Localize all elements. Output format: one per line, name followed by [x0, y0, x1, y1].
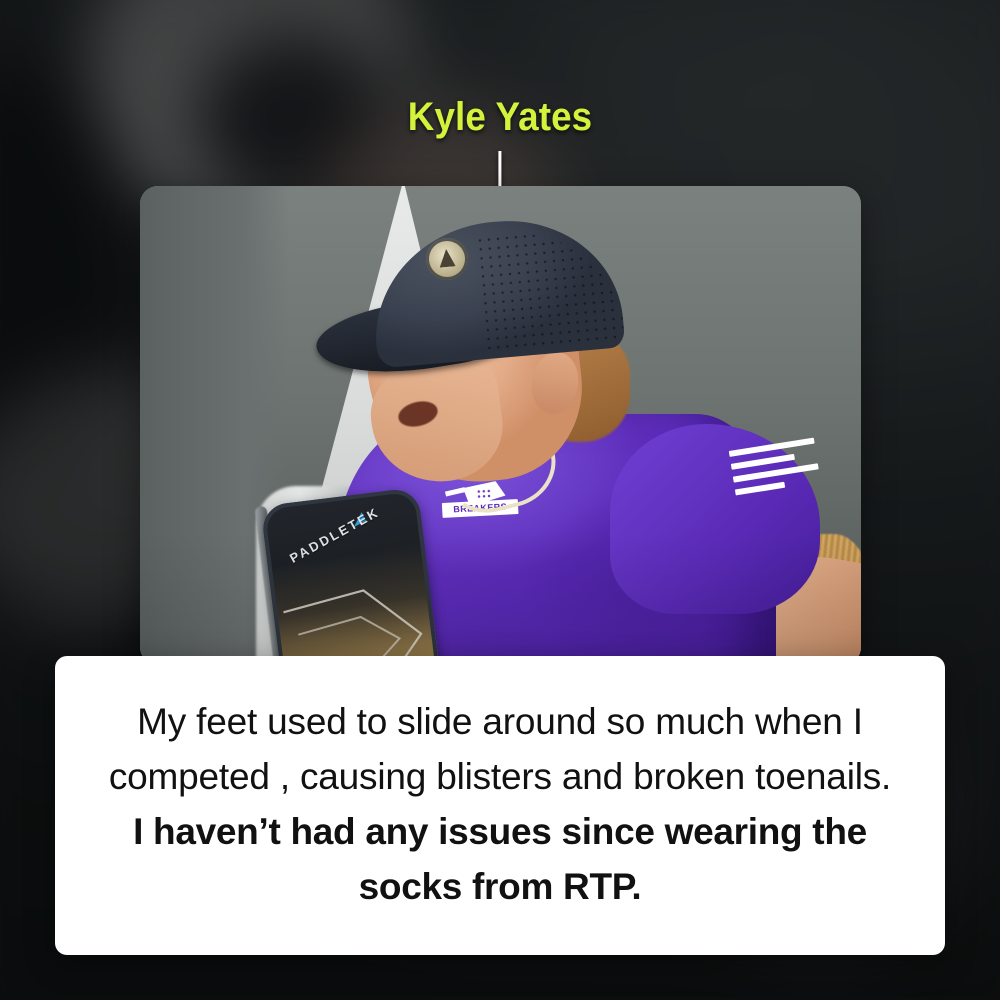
paddle-face: PADDLETEK PHANTOM — [260, 487, 441, 665]
headline-separator: | — [495, 145, 505, 189]
quote-plain-segment: My feet used to slide around so much whe… — [109, 701, 891, 797]
paddle-brand-text: PADDLETEK — [287, 504, 382, 566]
quote-text: My feet used to slide around so much whe… — [99, 694, 901, 914]
pickleball-paddle: PADDLETEK PHANTOM — [260, 487, 441, 665]
testimonial-quote-card: My feet used to slide around so much whe… — [55, 656, 945, 955]
athlete-name: Kyle Yates — [408, 95, 592, 139]
athlete-photo-card: BREAKERS PADDLETEK PHANTOM — [140, 186, 861, 665]
quote-bold-segment: I haven’t had any issues since wearing t… — [133, 811, 867, 907]
paddle-chevron-graphic — [278, 579, 440, 665]
